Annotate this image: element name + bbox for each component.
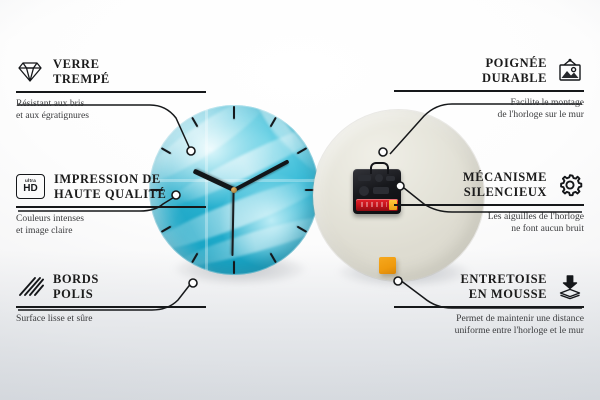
vignette-overlay [0, 0, 600, 400]
infographic-canvas: VERRETREMPÉ Résistant aux briset aux égr… [0, 0, 600, 400]
